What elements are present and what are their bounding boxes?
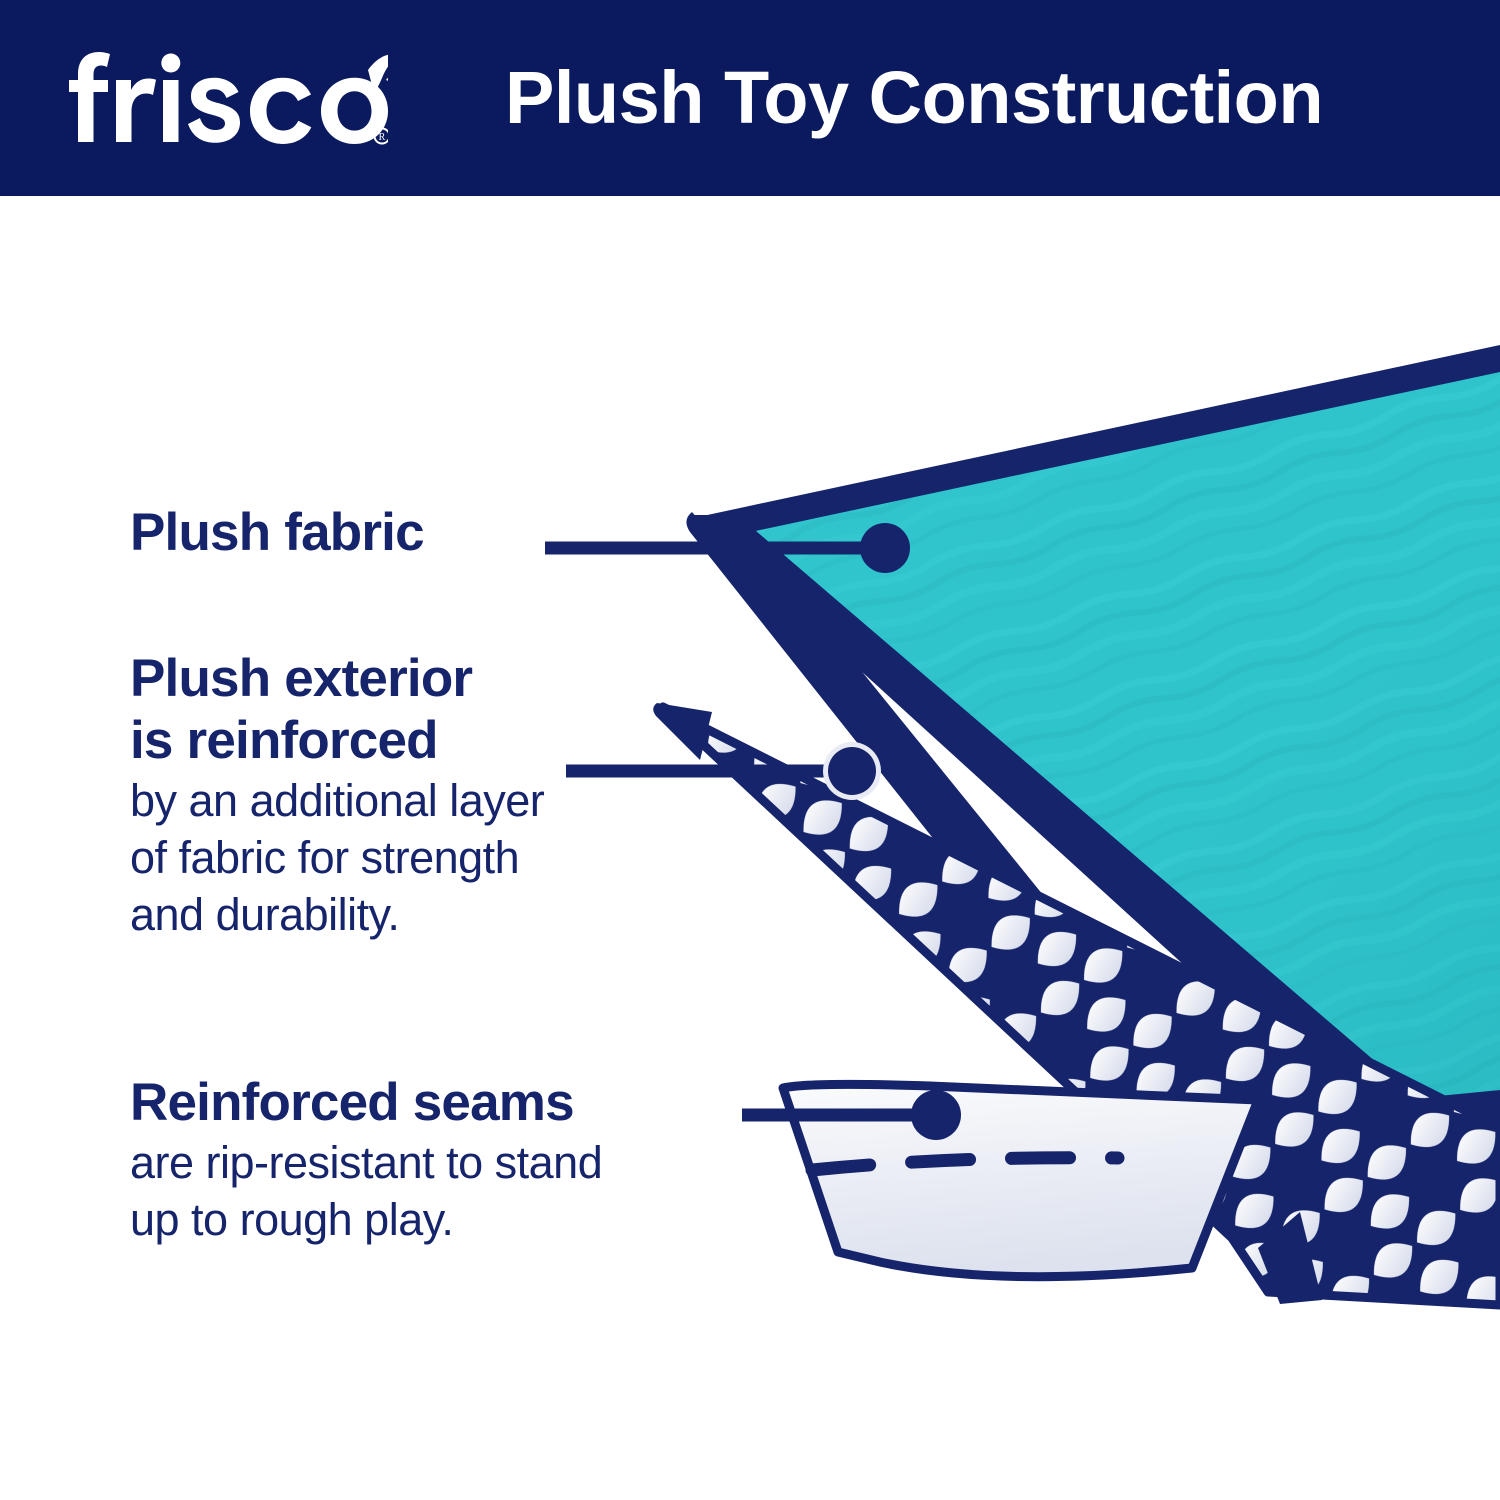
callout-plush-exterior-body: by an additional layer of fabric for str… [130, 772, 730, 943]
frisco-wordmark-logo: R [68, 50, 388, 146]
callout-reinforced-seams-body: are rip-resistant to stand up to rough p… [130, 1134, 810, 1248]
leader-dot-plush-exterior [828, 747, 876, 795]
seam-flap [783, 1084, 1258, 1276]
callout-reinforced-seams: Reinforced seams are rip-resistant to st… [130, 1072, 810, 1248]
callout-plush-fabric: Plush fabric [130, 502, 560, 564]
page-title: Plush Toy Construction [505, 46, 1385, 150]
callout-reinforced-seams-headline: Reinforced seams [130, 1072, 810, 1134]
leader-dot-reinforced-seams [911, 1090, 961, 1140]
callout-plush-exterior-headline: Plush exterior is reinforced [130, 648, 730, 772]
leader-plush-fabric [545, 523, 910, 573]
infographic-page: R Plush Toy Construction [0, 0, 1500, 1500]
leader-dot-plush-fabric [860, 523, 910, 573]
header-band: R Plush Toy Construction [0, 0, 1500, 196]
callout-plush-exterior: Plush exterior is reinforced by an addit… [130, 648, 730, 943]
svg-text:R: R [379, 132, 386, 143]
callout-plush-fabric-headline: Plush fabric [130, 502, 560, 564]
